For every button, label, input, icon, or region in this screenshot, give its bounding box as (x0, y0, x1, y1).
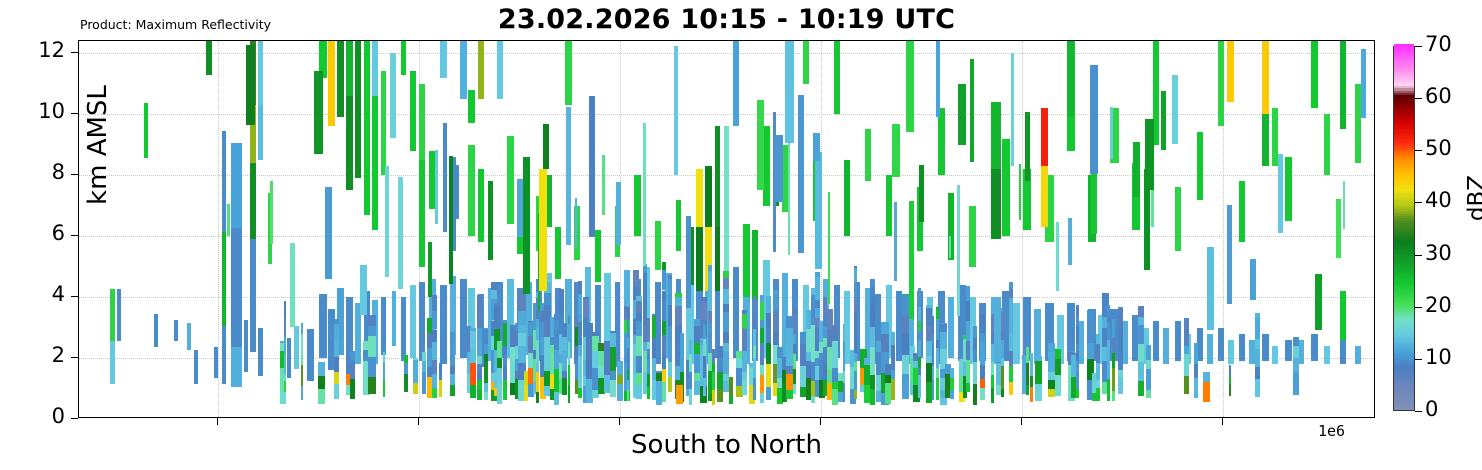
reflectivity-cell (647, 318, 650, 321)
reflectivity-cell (294, 326, 299, 369)
profile-column (1218, 41, 1224, 418)
reflectivity-cell (876, 339, 881, 341)
profile-column (214, 41, 219, 418)
reflectivity-cell (413, 360, 418, 383)
reflectivity-cell (636, 356, 642, 374)
profile-column (301, 41, 304, 418)
profile-column (144, 41, 148, 418)
reflectivity-cell (1315, 274, 1321, 330)
profile-column (798, 41, 804, 418)
reflectivity-cell (1227, 41, 1234, 102)
profile-column (757, 41, 764, 418)
profile-column (610, 41, 616, 418)
reflectivity-cell (404, 374, 408, 392)
reflectivity-cell (284, 381, 287, 393)
reflectivity-cell (1293, 358, 1299, 373)
profile-column (932, 41, 934, 418)
y-tick-mark (71, 174, 78, 175)
profile-column (686, 41, 690, 418)
profile-column (1118, 41, 1124, 418)
reflectivity-cell (575, 198, 577, 248)
reflectivity-cell (449, 156, 453, 285)
reflectivity-cell (301, 386, 304, 400)
reflectivity-cell (627, 338, 629, 348)
colorbar-gradient (1393, 46, 1415, 411)
profile-column (1184, 41, 1189, 418)
reflectivity-cell (497, 368, 502, 384)
reflectivity-cell (742, 372, 747, 379)
reflectivity-cell (404, 355, 408, 363)
profile-column (477, 41, 481, 418)
reflectivity-cell (885, 383, 891, 404)
profile-column (1030, 41, 1033, 418)
reflectivity-cell (676, 385, 683, 403)
reflectivity-cell (477, 356, 481, 364)
reflectivity-cell (413, 383, 418, 395)
reflectivity-cell (876, 391, 881, 402)
reflectivity-cell (636, 373, 642, 385)
reflectivity-cell (1090, 65, 1098, 174)
reflectivity-cell (926, 341, 932, 355)
reflectivity-cell (470, 363, 476, 385)
reflectivity-cell (854, 268, 857, 281)
reflectivity-cell (1110, 107, 1113, 160)
y-tick-label: 12 (0, 38, 65, 62)
reflectivity-cell (662, 382, 665, 402)
reflectivity-cell (766, 296, 771, 314)
reflectivity-cell (627, 305, 629, 307)
reflectivity-cell (766, 328, 771, 344)
profile-column (404, 41, 408, 418)
reflectivity-cell (1239, 334, 1245, 361)
profile-column (1315, 41, 1321, 418)
reflectivity-cell (503, 323, 506, 346)
profile-column (206, 41, 212, 418)
reflectivity-cell (554, 314, 559, 320)
reflectivity-cell (422, 361, 426, 372)
profile-column (1239, 41, 1245, 418)
profile-column (575, 41, 577, 418)
reflectivity-cell (729, 377, 733, 396)
reflectivity-cell (798, 95, 804, 253)
reflectivity-cell (703, 339, 706, 356)
profile-column (443, 41, 447, 418)
reflectivity-cell (435, 150, 439, 225)
reflectivity-cell (668, 340, 672, 362)
colorbar-band (1394, 44, 1414, 47)
profile-column (991, 41, 994, 418)
reflectivity-cell (497, 358, 502, 368)
reflectivity-cell (991, 344, 994, 362)
profile-column (117, 41, 122, 418)
reflectivity-cell (610, 347, 616, 370)
x-axis-label: South to North (78, 430, 1375, 460)
profile-column (222, 41, 227, 418)
reflectivity-cell (668, 295, 672, 306)
reflectivity-cell (876, 375, 881, 392)
reflectivity-cell (539, 169, 546, 291)
profile-column (870, 41, 875, 418)
reflectivity-cell (892, 124, 899, 177)
reflectivity-cell (1001, 312, 1004, 319)
reflectivity-cell (422, 372, 426, 394)
reflectivity-cell (470, 385, 476, 398)
reflectivity-cell (712, 390, 714, 405)
profile-column (766, 41, 771, 418)
reflectivity-cell (828, 192, 831, 304)
reflectivity-cell (870, 279, 875, 287)
reflectivity-cell (753, 346, 756, 358)
reflectivity-cell (766, 343, 771, 364)
reflectivity-cell (957, 185, 959, 317)
reflectivity-cell (662, 321, 665, 336)
reflectivity-cell (627, 380, 629, 391)
reflectivity-cell (909, 201, 915, 318)
profile-column (154, 41, 158, 418)
profile-column (1336, 41, 1341, 418)
profile-column (926, 41, 932, 418)
reflectivity-cell (460, 279, 467, 358)
profile-column (460, 41, 467, 418)
reflectivity-cell (231, 143, 242, 228)
reflectivity-cell (1041, 166, 1048, 227)
reflectivity-cell (222, 232, 227, 327)
reflectivity-cell (854, 390, 857, 400)
reflectivity-cell (854, 266, 857, 269)
reflectivity-cell (470, 331, 476, 349)
reflectivity-cell (627, 318, 629, 338)
reflectivity-cell (870, 327, 875, 347)
reflectivity-cell (647, 335, 650, 342)
reflectivity-cell (334, 384, 339, 399)
profile-column (627, 41, 629, 418)
reflectivity-cell (1285, 157, 1291, 221)
reflectivity-cell (1355, 346, 1361, 364)
reflectivity-cell (854, 371, 857, 390)
reflectivity-heatmap (79, 41, 1374, 417)
reflectivity-cell (117, 289, 122, 341)
reflectivity-cell (1278, 154, 1283, 233)
reflectivity-cell (413, 358, 418, 359)
reflectivity-cell (334, 340, 339, 357)
reflectivity-cell (1001, 366, 1004, 389)
profile-column (1172, 41, 1179, 418)
reflectivity-cell (477, 372, 481, 380)
reflectivity-cell (753, 369, 756, 379)
reflectivity-cell (980, 333, 985, 342)
reflectivity-cell (1285, 340, 1291, 361)
reflectivity-cell (144, 103, 148, 158)
profile-column (439, 41, 442, 418)
reflectivity-cell (1001, 319, 1004, 332)
profile-column (325, 41, 332, 418)
reflectivity-cell (398, 177, 402, 290)
reflectivity-cell (926, 356, 932, 363)
reflectivity-cell (385, 166, 388, 277)
reflectivity-cell (578, 356, 583, 364)
reflectivity-cell (301, 323, 304, 335)
reflectivity-cell (785, 41, 794, 143)
profile-column (753, 41, 756, 418)
reflectivity-cell (766, 313, 771, 327)
reflectivity-cell (1001, 308, 1004, 312)
reflectivity-cell (610, 333, 616, 347)
reflectivity-cell (578, 322, 583, 344)
reflectivity-cell (843, 324, 845, 341)
reflectivity-cell (428, 242, 433, 297)
y-tick-mark (71, 235, 78, 236)
reflectivity-cell (919, 165, 924, 222)
reflectivity-cell (662, 291, 665, 302)
reflectivity-cell (627, 307, 629, 318)
profile-column (957, 41, 959, 418)
reflectivity-cell (1076, 326, 1079, 344)
reflectivity-cell (668, 377, 672, 392)
reflectivity-cell (404, 363, 408, 373)
profile-column (785, 41, 794, 418)
reflectivity-cell (503, 380, 506, 387)
reflectivity-cell (1361, 49, 1366, 117)
profile-column (1324, 41, 1330, 418)
profile-column (449, 41, 453, 418)
reflectivity-cell (926, 382, 932, 404)
reflectivity-cell (368, 357, 375, 377)
profile-column (110, 41, 115, 418)
profile-column (919, 41, 924, 418)
reflectivity-cell (484, 344, 488, 354)
y-tick-mark (71, 357, 78, 358)
x-tick-mark (1222, 418, 1223, 425)
profile-column (1056, 41, 1059, 418)
profile-column (892, 41, 899, 418)
colorbar-tick-label: 0 (1425, 397, 1438, 421)
x-tick-mark (418, 418, 419, 425)
profile-column (413, 41, 418, 418)
reflectivity-cell (1172, 75, 1179, 143)
reflectivity-cell (636, 336, 642, 355)
reflectivity-cell (1118, 370, 1124, 377)
profile-column (390, 41, 396, 418)
colorbar-title: dBZ (1464, 153, 1482, 243)
reflectivity-cell (1343, 181, 1345, 229)
reflectivity-cell (662, 301, 665, 321)
reflectivity-cell (284, 318, 287, 336)
reflectivity-cell (703, 324, 706, 325)
reflectivity-cell (222, 326, 227, 384)
reflectivity-cell (854, 298, 857, 311)
reflectivity-cell (503, 320, 506, 322)
profile-column (314, 41, 323, 418)
reflectivity-cell (647, 374, 650, 387)
reflectivity-cell (554, 369, 559, 392)
reflectivity-cell (484, 354, 488, 362)
reflectivity-cell (876, 352, 881, 375)
reflectivity-cell (439, 363, 442, 373)
x-tick-mark (820, 418, 821, 425)
colorbar-tick-label: 40 (1425, 188, 1452, 212)
reflectivity-cell (470, 349, 476, 364)
reflectivity-cell (870, 366, 875, 375)
reflectivity-cell (390, 53, 396, 138)
reflectivity-cell (980, 388, 985, 399)
reflectivity-cell (334, 324, 339, 340)
reflectivity-cell (932, 380, 934, 399)
reflectivity-cell (753, 358, 756, 369)
reflectivity-cell (870, 389, 875, 405)
reflectivity-cell (636, 385, 642, 399)
reflectivity-cell (1207, 247, 1214, 331)
reflectivity-cell (1218, 41, 1224, 126)
reflectivity-cell (729, 395, 733, 404)
reflectivity-cell (578, 365, 583, 388)
profile-column (1076, 41, 1079, 418)
reflectivity-cell (636, 313, 642, 321)
reflectivity-cell (578, 345, 583, 357)
reflectivity-cell (290, 243, 295, 326)
reflectivity-cell (1184, 326, 1189, 346)
reflectivity-cell (991, 334, 994, 345)
colorbar-tick-mark (1415, 98, 1422, 99)
reflectivity-cell (742, 314, 747, 329)
reflectivity-cell (742, 379, 747, 395)
profile-column (703, 41, 706, 418)
profile-column (647, 41, 650, 418)
reflectivity-cell (775, 135, 783, 202)
reflectivity-cell (854, 282, 857, 298)
profile-column (194, 41, 198, 418)
reflectivity-cell (301, 365, 304, 386)
reflectivity-cell (503, 355, 506, 366)
reflectivity-cell (1001, 389, 1004, 397)
reflectivity-cell (227, 204, 230, 237)
reflectivity-cell (742, 310, 747, 314)
profile-column (936, 41, 941, 418)
reflectivity-cell (1076, 372, 1079, 389)
reflectivity-cell (1118, 307, 1124, 308)
reflectivity-cell (1076, 305, 1079, 315)
reflectivity-cell (477, 364, 481, 373)
reflectivity-cell (422, 352, 426, 361)
profile-column (1001, 41, 1004, 418)
reflectivity-cell (643, 123, 646, 265)
profile-column (1194, 41, 1198, 418)
profile-column (1019, 41, 1021, 418)
reflectivity-cell (970, 59, 974, 162)
reflectivity-cell (1184, 346, 1189, 353)
reflectivity-cell (980, 379, 985, 389)
reflectivity-cell (932, 316, 934, 334)
profile-column (385, 41, 388, 418)
x-tick-mark (1021, 418, 1022, 425)
profile-column (422, 41, 426, 418)
profile-column (828, 41, 831, 418)
profile-column (334, 41, 339, 418)
reflectivity-cell (1218, 328, 1224, 362)
reflectivity-cell (350, 361, 355, 379)
profile-column (885, 41, 891, 418)
profile-column (1250, 41, 1257, 418)
reflectivity-cell (936, 41, 941, 117)
profile-column (843, 41, 845, 418)
profile-column (270, 41, 273, 418)
reflectivity-cell (668, 275, 672, 279)
reflectivity-cell (206, 41, 212, 75)
reflectivity-cell (334, 319, 339, 324)
profile-column (729, 41, 733, 418)
reflectivity-cell (187, 323, 192, 350)
reflectivity-cell (1030, 353, 1033, 367)
reflectivity-cell (1030, 367, 1033, 376)
reflectivity-cell (854, 362, 857, 371)
reflectivity-cell (854, 331, 857, 353)
reflectivity-cell (314, 71, 323, 155)
profile-column (1090, 41, 1098, 418)
profile-column (1011, 41, 1014, 418)
reflectivity-cell (110, 341, 115, 384)
reflectivity-cell (1118, 339, 1124, 353)
reflectivity-cell (1355, 84, 1361, 163)
reflectivity-cell (439, 380, 442, 397)
reflectivity-cell (1262, 334, 1269, 361)
profile-column (290, 41, 295, 418)
reflectivity-cell (578, 388, 583, 398)
profile-column (1285, 41, 1291, 418)
colorbar-tick-label: 60 (1425, 84, 1452, 108)
reflectivity-cell (668, 326, 672, 340)
reflectivity-cell (753, 296, 756, 314)
reflectivity-cell (1118, 377, 1124, 394)
profile-column (909, 41, 915, 418)
reflectivity-cell (503, 366, 506, 381)
reflectivity-cell (662, 335, 665, 354)
reflectivity-cell (610, 331, 616, 333)
profile-column (368, 41, 375, 418)
profile-column (636, 41, 642, 418)
reflectivity-cell (246, 45, 255, 125)
reflectivity-cell (258, 105, 263, 160)
reflectivity-cell (270, 181, 273, 244)
reflectivity-cell (1030, 387, 1033, 401)
reflectivity-cell (1056, 222, 1059, 291)
reflectivity-cell (477, 389, 481, 400)
reflectivity-cell (712, 349, 714, 364)
profile-column (1161, 41, 1166, 418)
profile-column (668, 41, 672, 418)
profile-column (712, 41, 714, 418)
reflectivity-cell (885, 364, 891, 375)
reflectivity-cell (647, 360, 650, 374)
colorbar-tick-mark (1415, 150, 1422, 151)
reflectivity-cell (284, 374, 287, 381)
reflectivity-cell (668, 279, 672, 295)
reflectivity-cell (334, 372, 339, 384)
reflectivity-cell (484, 383, 488, 391)
reflectivity-cell (1194, 378, 1198, 397)
reflectivity-cell (1067, 41, 1075, 117)
reflectivity-cell (439, 372, 442, 380)
profile-column (980, 41, 985, 418)
profile-column (1355, 41, 1361, 418)
reflectivity-cell (523, 157, 530, 294)
reflectivity-cell (870, 347, 875, 366)
reflectivity-cell (1076, 344, 1079, 351)
profile-column (1293, 41, 1299, 418)
reflectivity-cell (484, 330, 488, 344)
reflectivity-cell (636, 329, 642, 336)
profile-column (1133, 41, 1141, 418)
reflectivity-cell (1001, 358, 1004, 366)
reflectivity-cell (477, 311, 481, 328)
